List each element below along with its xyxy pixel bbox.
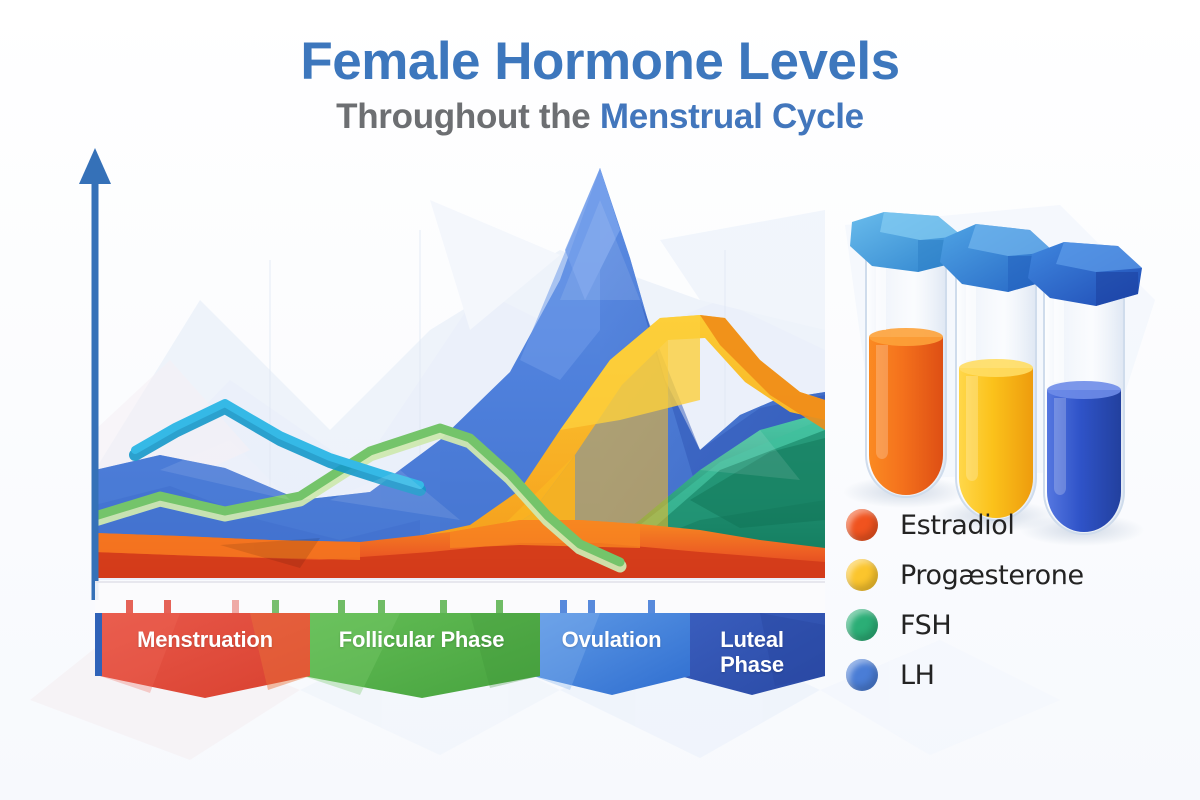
dot-icon <box>846 509 878 541</box>
legend-item-fsh[interactable]: FSH <box>846 600 1146 650</box>
subtitle-gray-part: Throughout the <box>336 97 600 136</box>
dot-icon <box>846 559 878 591</box>
legend-label-estradiol: Estradiol <box>900 510 1014 541</box>
legend-label-progesterone: Progæsterone <box>900 560 1084 591</box>
subtitle-blue-part: Menstrual Cycle <box>600 97 864 136</box>
legend-item-lh[interactable]: LH <box>846 650 1146 700</box>
dot-icon <box>846 609 878 641</box>
page-subtitle: Throughout the Menstrual Cycle <box>0 98 1200 137</box>
title-block: Female Hormone Levels Throughout the Men… <box>0 34 1200 136</box>
infographic-canvas: Menstruation Follicular Phase Ovulation … <box>0 0 1200 800</box>
legend-item-estradiol[interactable]: Estradiol <box>846 500 1146 550</box>
legend-label-lh: LH <box>900 660 935 691</box>
legend-item-progesterone[interactable]: Progæsterone <box>846 550 1146 600</box>
legend-label-fsh: FSH <box>900 610 951 641</box>
dot-icon <box>846 659 878 691</box>
chart-legend: Estradiol Progæsterone FSH LH <box>846 500 1146 700</box>
page-title: Female Hormone Levels <box>0 34 1200 90</box>
lh-tube <box>1028 242 1142 534</box>
